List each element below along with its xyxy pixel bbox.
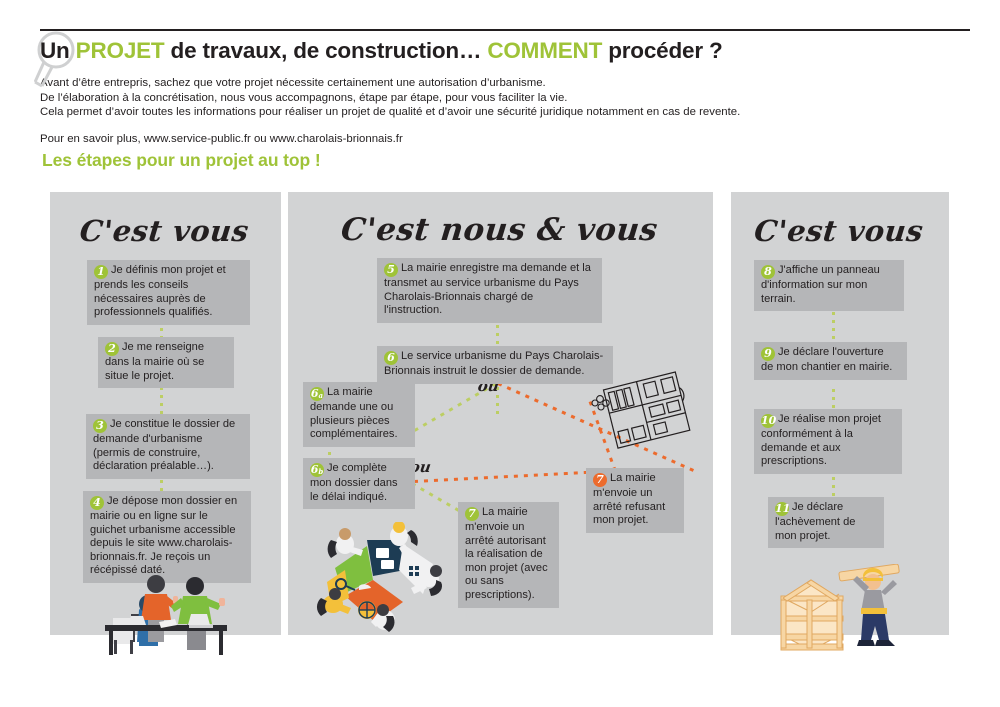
step-2: 2Je me renseigne dans la mairie où se si… (98, 337, 234, 388)
intro-line-3: Cela permet d’avoir toutes les informati… (40, 105, 970, 120)
more-info-line: Pour en savoir plus, www.service-public.… (40, 133, 970, 145)
step-1-badge: 1 (94, 265, 108, 279)
column-cest-vous-right: C'est vous 8J'affiche un panneau d'infor… (731, 192, 949, 635)
step-6b-sub: b (318, 467, 323, 476)
step-9: 9Je déclare l'ouverture de mon chantier … (754, 342, 907, 380)
step-11: 11Je déclare l'achèvement de mon projet. (768, 497, 884, 548)
connector-2-3 (160, 387, 163, 415)
step-6a-num: 6 (311, 387, 319, 400)
step-6a-sub: a (319, 391, 324, 400)
floor-plan-sketch (588, 367, 698, 457)
step-7-autorisation: 7La mairie m'envoie un arrêté autorisant… (458, 502, 559, 608)
step-6a-badge: 6a (310, 387, 324, 401)
step-6-text: Le service urbanisme du Pays Charolais-B… (384, 350, 603, 377)
connector-6b-to-7-autorisation (411, 482, 464, 515)
step-7-autorisation-badge: 7 (465, 507, 479, 521)
step-3-text: Je constitue le dossier de demande d'urb… (93, 418, 235, 472)
header: Un PROJET de travaux, de construction… C… (40, 28, 970, 145)
intro-line-1: Avant d’être entrepris, sachez que votre… (40, 76, 970, 91)
step-10-badge: 10 (761, 414, 775, 428)
step-8: 8J'affiche un panneau d'information sur … (754, 260, 904, 311)
step-5-text: La mairie enregistre ma demande et la tr… (384, 262, 591, 316)
step-10-text: Je réalise mon projet conformément à la … (761, 413, 881, 467)
steps-area: C'est vous 1Je définis mon projet et pre… (0, 192, 1000, 652)
step-10: 10Je réalise mon projet conformément à l… (754, 409, 902, 474)
intro-line-2: De l’élaboration à la concrétisation, no… (40, 91, 970, 106)
step-6b: 6bJe complète mon dossier dans le délai … (303, 458, 415, 509)
title-part-0: Un (40, 38, 76, 63)
title-part-1: PROJET (76, 38, 165, 63)
step-7-refus: 7La mairie m'envoie un arrêté refusant m… (586, 468, 684, 533)
step-5: 5La mairie enregistre ma demande et la t… (377, 258, 602, 323)
connector-6b-to-refus (414, 471, 590, 483)
step-8-badge: 8 (761, 265, 775, 279)
step-11-badge: 11 (775, 502, 789, 516)
step-4-badge: 4 (90, 496, 104, 510)
step-6-badge: 6 (384, 351, 398, 365)
step-4-text: Je dépose mon dossier en mairie ou en li… (90, 495, 237, 576)
step-7-autorisation-text: La mairie m'envoie un arrêté autorisant … (465, 506, 548, 601)
step-2-badge: 2 (105, 342, 119, 356)
meeting-at-desk-illustration (95, 570, 240, 658)
column-cest-vous-left: C'est vous 1Je définis mon projet et pre… (50, 192, 281, 635)
builder-with-plank-illustration (773, 564, 908, 656)
step-3-badge: 3 (93, 419, 107, 433)
title-part-2: de travaux, de construction… (164, 38, 487, 63)
column-2-heading: C'est nous & vous (285, 192, 716, 248)
title-part-3: COMMENT (487, 38, 602, 63)
column-1-heading: C'est vous (47, 192, 284, 248)
step-6a: 6aLa mairie demande une ou plusieurs piè… (303, 382, 415, 447)
intro-paragraph: Avant d’être entrepris, sachez que votre… (40, 76, 970, 120)
step-7-refus-badge: 7 (593, 473, 607, 487)
step-6b-badge: 6b (310, 463, 324, 477)
step-1: 1Je définis mon projet et prends les con… (87, 260, 250, 325)
column-3-heading: C'est vous (728, 192, 952, 248)
step-8-text: J'affiche un panneau d'information sur m… (761, 264, 880, 305)
title-top-rule (40, 29, 970, 31)
section-subtitle: Les étapes pour un projet au top ! (42, 150, 321, 171)
column-cest-nous-et-vous: C'est nous & vous ou ou 5La mairie enreg… (288, 192, 713, 635)
step-1-text: Je définis mon projet et prends les cons… (94, 264, 226, 318)
page-title: Un PROJET de travaux, de construction… C… (40, 34, 970, 68)
step-5-badge: 5 (384, 263, 398, 277)
step-6: 6Le service urbanisme du Pays Charolais-… (377, 346, 613, 384)
infographic-page: Un PROJET de travaux, de construction… C… (0, 0, 1000, 707)
connector-9-10 (832, 389, 835, 411)
title-part-4: procéder ? (602, 38, 722, 63)
step-9-text: Je déclare l'ouverture de mon chantier e… (761, 346, 892, 373)
step-9-badge: 9 (761, 347, 775, 361)
team-puzzle-table-illustration (305, 522, 455, 634)
step-3: 3Je constitue le dossier de demande d'ur… (86, 414, 250, 479)
step-2-text: Je me renseigne dans la mairie où se sit… (105, 341, 204, 382)
